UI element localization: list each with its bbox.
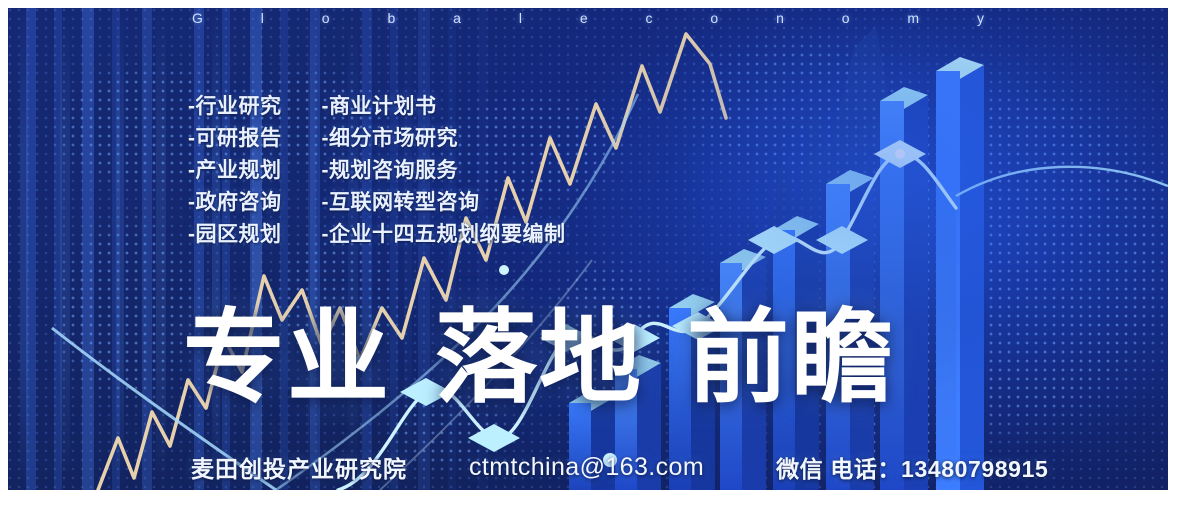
service-item: -规划咨询服务 bbox=[322, 156, 566, 185]
diamond-marker-icon bbox=[816, 226, 868, 254]
service-item: -企业十四五规划纲要编制 bbox=[322, 220, 566, 249]
slogan-headline: 专业 落地 前瞻 bbox=[183, 306, 895, 410]
arc-right-icon bbox=[956, 167, 1168, 196]
slogan-word-3: 前瞻 bbox=[687, 306, 895, 410]
slogan-word-1: 专业 bbox=[183, 306, 391, 410]
service-lists: -行业研究 -可研报告 -产业规划 -政府咨询 -园区规划 -商业计划书 -细分… bbox=[188, 92, 566, 249]
center-glow bbox=[8, 8, 1168, 490]
dot-grid-background bbox=[8, 8, 1168, 490]
service-column-right: -商业计划书 -细分市场研究 -规划咨询服务 -互联网转型咨询 -企业十四五规划… bbox=[322, 92, 566, 249]
vertical-light-bars-secondary bbox=[8, 8, 1168, 490]
promo-banner: G l o b a l e c o n o m y -行业研究 -可研报告 -产… bbox=[8, 8, 1168, 490]
dot-marker-icon bbox=[499, 265, 509, 275]
email-address[interactable]: ctmtchina@163.com bbox=[469, 453, 704, 482]
service-item: -园区规划 bbox=[188, 220, 282, 249]
diamond-marker-icon bbox=[468, 424, 520, 452]
service-item: -行业研究 bbox=[188, 92, 282, 121]
world-dot-map-icon bbox=[8, 8, 1168, 490]
service-item: -互联网转型咨询 bbox=[322, 188, 566, 217]
diamond-marker-icon bbox=[874, 140, 926, 168]
service-item: -政府咨询 bbox=[188, 188, 282, 217]
vertical-light-bars bbox=[8, 8, 1168, 490]
bar-column-icon bbox=[936, 57, 984, 490]
organization-name: 麦田创投产业研究院 bbox=[191, 450, 407, 484]
banner-header-text: G l o b a l e c o n o m y bbox=[8, 10, 1168, 26]
slogan-word-2: 落地 bbox=[435, 306, 643, 410]
bar-group bbox=[569, 57, 984, 490]
bar-column-icon bbox=[880, 87, 928, 490]
service-item: -细分市场研究 bbox=[322, 124, 566, 153]
footer-contact: 麦田创投产业研究院 ctmtchina@163.com 微信 电话：134807… bbox=[191, 450, 1048, 484]
diamond-marker-icon bbox=[748, 226, 800, 254]
service-item: -产业规划 bbox=[188, 156, 282, 185]
growth-chart-graphic bbox=[8, 8, 1168, 490]
service-item: -可研报告 bbox=[188, 124, 282, 153]
service-column-left: -行业研究 -可研报告 -产业规划 -政府咨询 -园区规划 bbox=[188, 92, 282, 249]
wechat-phone: 微信 电话：13480798915 bbox=[776, 450, 1048, 484]
dot-marker-icon bbox=[895, 149, 905, 159]
service-item: -商业计划书 bbox=[322, 92, 566, 121]
